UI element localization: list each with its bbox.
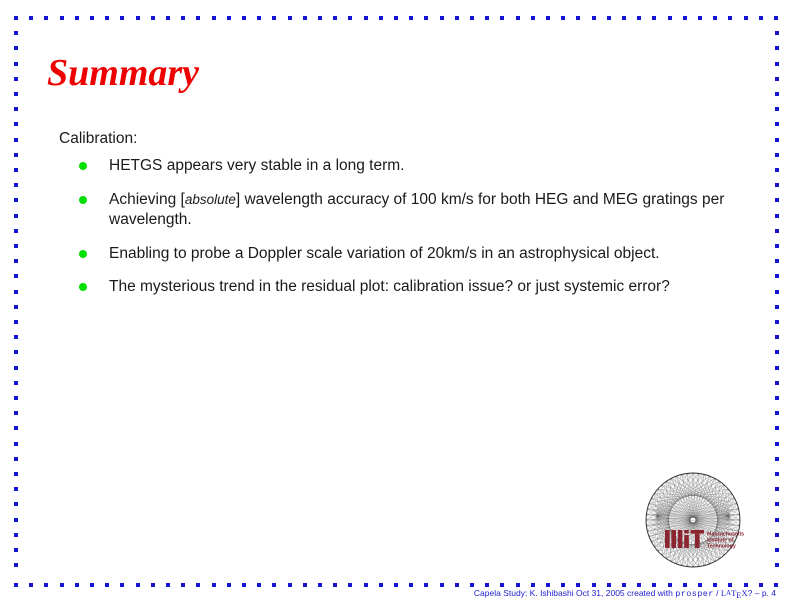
bullet-item: HETGS appears very stable in a long term…	[79, 156, 739, 177]
footer-package: prosper	[675, 589, 714, 599]
bullet-item: Enabling to probe a Doppler scale variat…	[79, 244, 739, 265]
bullet-text: HETGS appears very stable in a long term…	[109, 156, 739, 177]
mit-line3: Technology	[707, 544, 736, 550]
bullet-marker-icon	[79, 162, 87, 170]
bullet-span: The mysterious trend in the residual plo…	[109, 278, 670, 295]
bullet-text: Enabling to probe a Doppler scale variat…	[109, 244, 739, 265]
bullet-marker-icon	[79, 283, 87, 291]
footer-separator: /	[714, 588, 721, 598]
bullet-text: The mysterious trend in the residual plo…	[109, 277, 739, 298]
footer-prefix: Capela Study: K. Ishibashi Oct 31, 2005 …	[474, 588, 675, 598]
bullet-span: HETGS appears very stable in a long term…	[109, 157, 405, 174]
bullet-list: HETGS appears very stable in a long term…	[79, 156, 739, 311]
bullet-emphasis: absolute	[185, 192, 236, 207]
bullet-text: Achieving [absolute] wavelength accuracy…	[109, 190, 739, 231]
footer-latex-logo: LATEX	[721, 588, 748, 598]
bullet-marker-icon	[79, 250, 87, 258]
mit-logo: Massachusetts Institute of Technology	[629, 456, 757, 584]
bullet-span: Achieving [	[109, 191, 185, 208]
footer-suffix: ? – p. 4	[748, 588, 776, 598]
footer-credit: Capela Study: K. Ishibashi Oct 31, 2005 …	[0, 588, 792, 600]
bullet-item: The mysterious trend in the residual plo…	[79, 277, 739, 298]
bullet-marker-icon	[79, 196, 87, 204]
slide-canvas: Summary Calibration: HETGS appears very …	[0, 0, 792, 612]
bullet-item: Achieving [absolute] wavelength accuracy…	[79, 190, 739, 231]
bullet-span: Enabling to probe a Doppler scale variat…	[109, 245, 660, 262]
lead-label: Calibration:	[59, 130, 137, 148]
